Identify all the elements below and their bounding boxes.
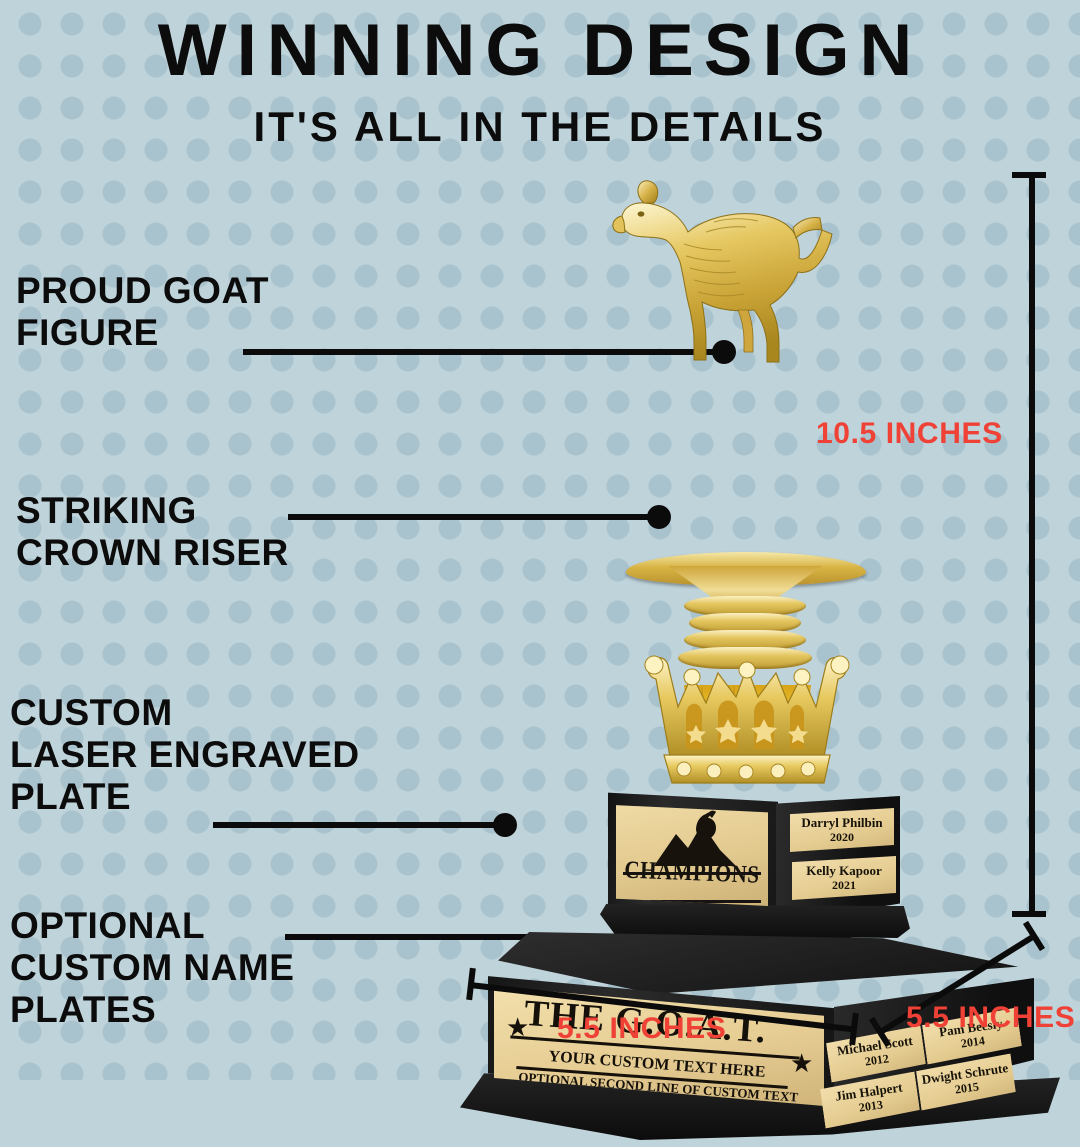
callout-label-proud-goat-figure: PROUD GOAT FIGURE [16,270,269,354]
name-plate: Darryl Philbin 2020 [790,808,894,852]
champions-engraved-plate: CHAMPIONS [616,802,768,906]
depth-dimension-label: 5.5 INCHES [906,1001,1075,1035]
height-dimension-line [1029,172,1035,917]
goat-figurine-icon [610,170,870,380]
callout-line-2: LASER ENGRAVED [10,734,360,776]
height-dimension-cap-top [1012,172,1046,178]
name-plate-year: 2021 [792,878,896,892]
infographic-canvas: WINNING DESIGN IT'S ALL IN THE DETAILS P… [0,0,1080,1080]
name-plate-year: 2020 [790,830,894,844]
crown-riser-icon [640,645,855,795]
callout-line-3: PLATES [10,989,294,1031]
callout-line-2: CROWN RISER [16,532,289,574]
name-plate: Kelly Kapoor 2021 [792,856,896,900]
upper-base: CHAMPIONS Darryl Philbin 2020 Kelly Kapo… [608,782,898,937]
callout-line-1: STRIKING [16,490,289,532]
callout-label-custom-laser-engraved-plate: CUSTOM LASER ENGRAVED PLATE [10,692,360,817]
page-subtitle: IT'S ALL IN THE DETAILS [0,106,1080,148]
callout-label-striking-crown-riser: STRIKING CROWN RISER [16,490,289,574]
name-plate-name: Darryl Philbin [790,815,894,830]
height-dimension-label: 10.5 INCHES [816,417,1003,451]
callout-line-2: CUSTOM NAME [10,947,294,989]
page-title: WINNING DESIGN [0,14,1080,87]
champions-label: CHAMPIONS [616,855,768,890]
callout-line-1: OPTIONAL [10,905,294,947]
callout-line-1: CUSTOM [10,692,360,734]
height-dimension-cap-bottom [1012,911,1046,917]
width-dimension-label: 5.5 INCHES [557,1012,726,1046]
callout-label-optional-custom-name-plates: OPTIONAL CUSTOM NAME PLATES [10,905,294,1030]
callout-line-1: PROUD GOAT [16,270,269,312]
name-plate-name: Kelly Kapoor [792,863,896,878]
callout-line-2: FIGURE [16,312,269,354]
trophy-product-image: CHAMPIONS Darryl Philbin 2020 Kelly Kapo… [430,160,1070,990]
callout-line-3: PLATE [10,776,360,818]
